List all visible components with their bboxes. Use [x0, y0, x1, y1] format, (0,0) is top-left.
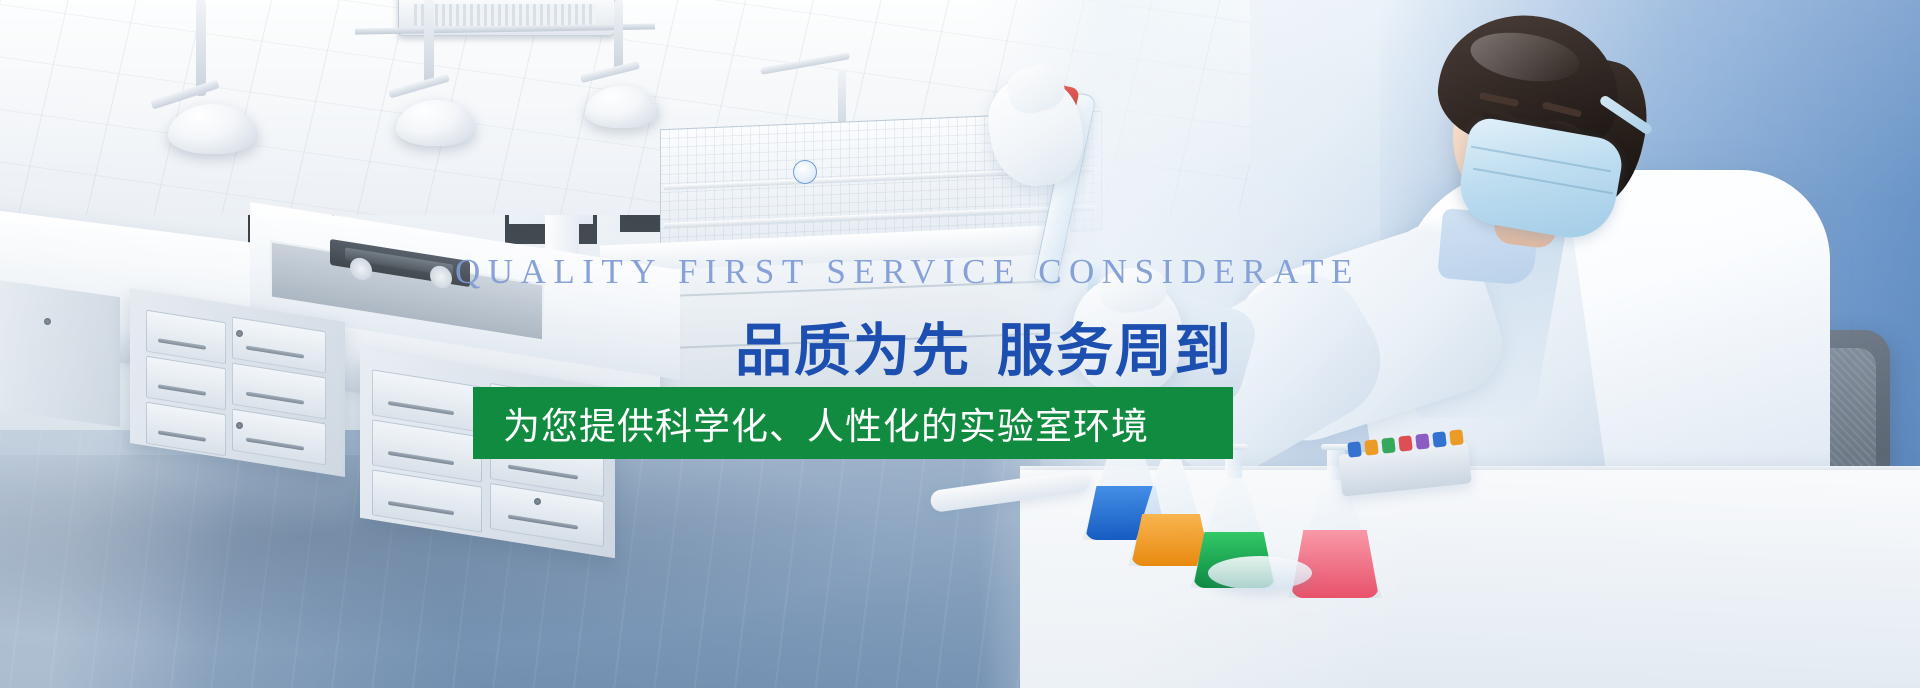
subtitle-text: 为您提供科学化、人性化的实验室环境 — [473, 396, 1149, 450]
headline: 品质为先服务周到 — [735, 305, 1233, 387]
english-tagline: QUALITY FIRST SERVICE CONSIDERATE — [455, 252, 1360, 292]
headline-part-2: 服务周到 — [997, 318, 1233, 384]
banner-text-block: QUALITY FIRST SERVICE CONSIDERATE 品质为先服务… — [0, 0, 1920, 688]
hero-banner: QUALITY FIRST SERVICE CONSIDERATE 品质为先服务… — [0, 0, 1920, 688]
subtitle-green-bar: 为您提供科学化、人性化的实验室环境 — [473, 387, 1233, 459]
headline-part-1: 品质为先 — [735, 318, 971, 384]
